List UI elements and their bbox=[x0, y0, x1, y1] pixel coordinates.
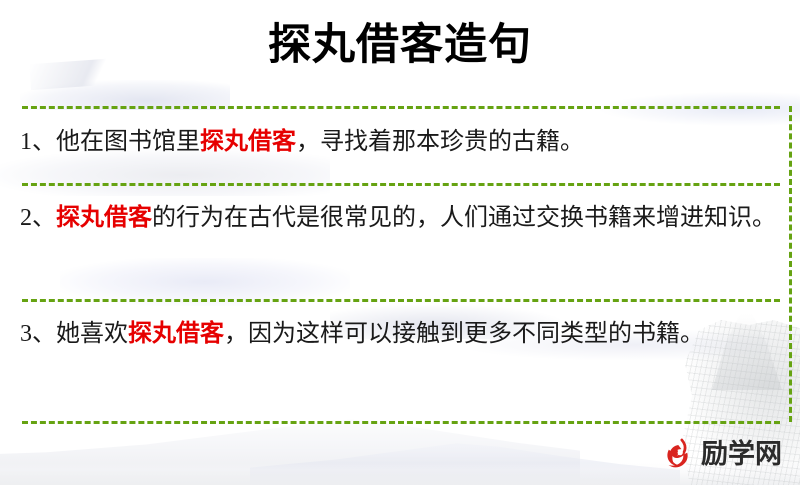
example-sentence-2: 2、探丸借客的行为在古代是很常见的，人们通过交换书籍来增进知识。 bbox=[20, 198, 782, 238]
divider-above-sentence-2 bbox=[22, 183, 780, 186]
ink-wash-cloud-watermark bbox=[600, 92, 800, 126]
sentence-1-idiom: 探丸借客 bbox=[200, 129, 296, 155]
site-logo-text: 励学网 bbox=[701, 439, 782, 469]
divider-above-sentence-1 bbox=[22, 106, 780, 109]
sentence-3-idiom: 探丸借客 bbox=[128, 321, 224, 347]
sentence-1-text-after: ，寻找着那本珍贵的古籍。 bbox=[296, 129, 584, 155]
sentence-2-idiom: 探丸借客 bbox=[56, 205, 152, 231]
ink-wash-mountain-watermark bbox=[0, 407, 580, 485]
sentence-1-number: 1、 bbox=[20, 129, 56, 155]
red-swirl-flame-logo-icon bbox=[661, 437, 695, 471]
site-logo[interactable]: 励学网 bbox=[661, 435, 782, 473]
sentence-3-text-after: ，因为这样可以接触到更多不同类型的书籍。 bbox=[224, 321, 704, 347]
example-sentence-1: 1、他在图书馆里探丸借客，寻找着那本珍贵的古籍。 bbox=[20, 122, 782, 162]
ink-wash-mountain-watermark bbox=[250, 427, 680, 485]
divider-above-sentence-3 bbox=[22, 299, 780, 302]
sentence-2-number: 2、 bbox=[20, 205, 56, 231]
sentence-2-text-after: 的行为在古代是很常见的，人们通过交换书籍来增进知识。 bbox=[152, 205, 776, 231]
sentence-3-text-before: 她喜欢 bbox=[56, 321, 128, 347]
sentence-1-text-before: 他在图书馆里 bbox=[56, 129, 200, 155]
divider-below-sentence-3 bbox=[22, 421, 780, 424]
example-sentence-3: 3、她喜欢探丸借客，因为这样可以接触到更多不同类型的书籍。 bbox=[20, 314, 782, 354]
page-title: 探丸借客造句 bbox=[0, 17, 800, 75]
divider-right-edge bbox=[789, 106, 792, 422]
sentence-3-number: 3、 bbox=[20, 321, 56, 347]
slide-canvas: 探丸借客造句 1、他在图书馆里探丸借客，寻找着那本珍贵的古籍。 2、探丸借客的行… bbox=[0, 0, 800, 485]
